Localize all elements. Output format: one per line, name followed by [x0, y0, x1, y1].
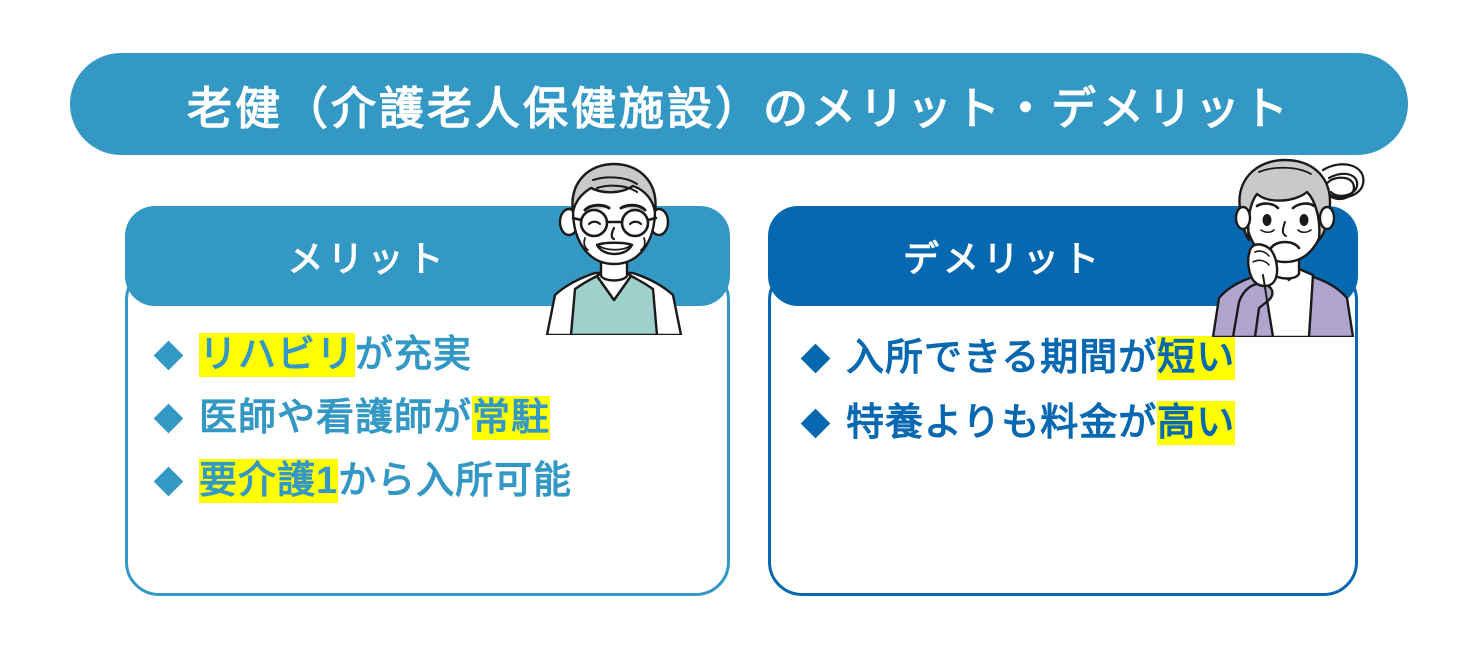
diamond-bullet-icon — [801, 408, 831, 438]
page-title: 老健（介護老人保健施設）のメリット・デメリット — [187, 72, 1291, 137]
diamond-bullet-icon — [154, 466, 184, 496]
list-item-label: 入所できる期間が短い — [846, 336, 1235, 381]
diamond-bullet-icon — [154, 403, 184, 433]
highlighted-text: 要介護1 — [199, 459, 338, 503]
merit-header-label: メリット — [287, 230, 447, 282]
smiling-elderly-man-illustration — [533, 160, 695, 335]
list-item-label: 特養よりも料金が高い — [846, 401, 1235, 446]
diamond-bullet-icon — [801, 344, 831, 374]
diamond-bullet-icon — [154, 341, 184, 371]
worried-elderly-woman-illustration — [1203, 152, 1375, 337]
plain-text: が充実 — [355, 334, 472, 376]
plain-text: 特養よりも料金が — [846, 402, 1157, 444]
plain-text: 医師や看護師が — [199, 397, 472, 439]
list-item: 特養よりも料金が高い — [805, 401, 1235, 446]
list-item: 医師や看護師が常駐 — [158, 396, 572, 441]
page-title-banner: 老健（介護老人保健施設）のメリット・デメリット — [70, 53, 1408, 155]
infographic-canvas: 老健（介護老人保健施設）のメリット・デメリット メリット デメリット リハビリが… — [0, 0, 1480, 649]
list-item: 要介護1から入所可能 — [158, 459, 572, 504]
list-item-label: リハビリが充実 — [199, 333, 472, 378]
plain-text: 入所できる期間が — [846, 337, 1157, 379]
demerit-bullet-list: 入所できる期間が短い特養よりも料金が高い — [805, 336, 1235, 466]
plain-text: から入所可能 — [338, 460, 572, 502]
list-item-label: 医師や看護師が常駐 — [199, 396, 550, 441]
list-item-label: 要介護1から入所可能 — [199, 459, 572, 504]
list-item: リハビリが充実 — [158, 333, 572, 378]
highlighted-text: リハビリ — [199, 333, 355, 377]
demerit-header-label: デメリット — [903, 230, 1103, 282]
merit-bullet-list: リハビリが充実医師や看護師が常駐要介護1から入所可能 — [158, 333, 572, 521]
highlighted-text: 高い — [1157, 401, 1235, 445]
highlighted-text: 常駐 — [472, 396, 550, 440]
highlighted-text: 短い — [1157, 336, 1235, 380]
list-item: 入所できる期間が短い — [805, 336, 1235, 381]
